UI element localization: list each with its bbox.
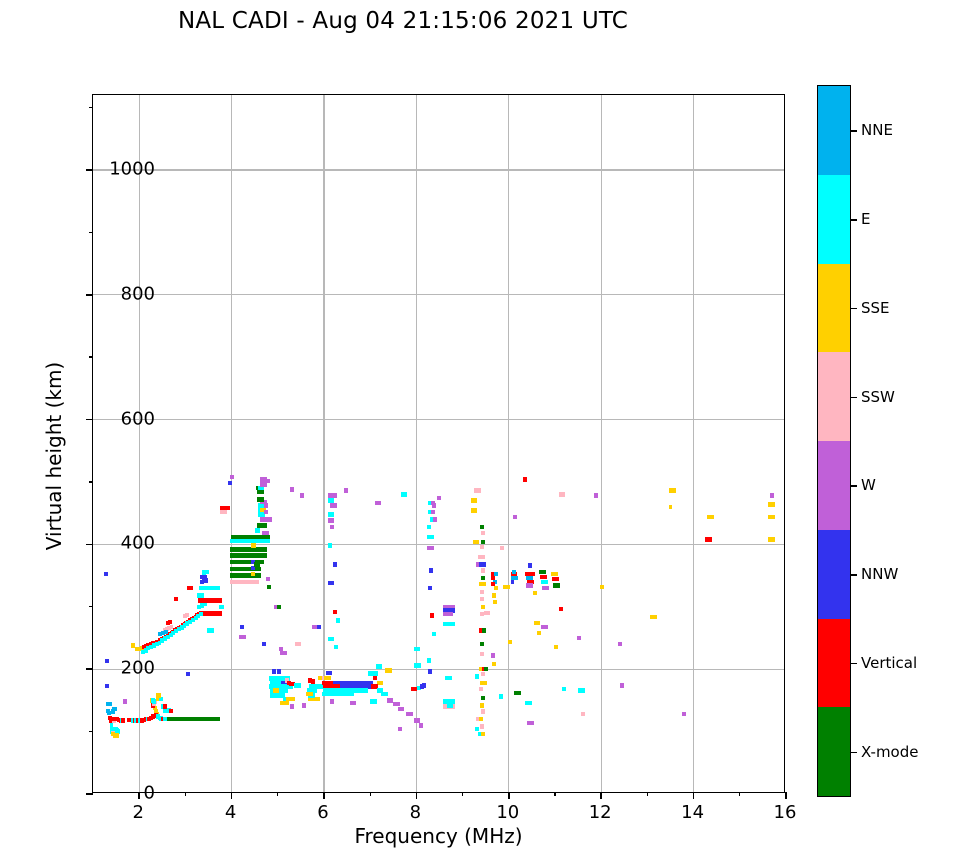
data-point	[480, 652, 484, 656]
data-point	[283, 651, 287, 655]
data-point	[771, 515, 775, 519]
data-point	[669, 505, 673, 509]
x-axis-tick	[323, 792, 325, 799]
data-point	[263, 553, 267, 557]
data-point	[481, 555, 485, 559]
data-point	[672, 488, 676, 492]
data-point	[554, 645, 558, 649]
colorbar-tick	[850, 219, 857, 221]
data-point	[373, 676, 377, 680]
colorbar-tick	[850, 663, 857, 665]
data-point	[297, 683, 301, 687]
data-point	[771, 537, 775, 541]
data-point	[513, 515, 517, 519]
data-point	[401, 707, 405, 711]
x-axis-tick	[785, 792, 787, 799]
data-point	[544, 625, 548, 629]
data-point	[480, 525, 484, 529]
data-point	[309, 692, 313, 696]
plot-area	[92, 94, 785, 793]
y-axis-tick-label: 1000	[109, 158, 155, 179]
data-point	[264, 503, 268, 507]
colorbar-segment-ssw	[818, 352, 850, 441]
data-point	[481, 709, 485, 713]
data-point	[600, 585, 604, 589]
data-point	[653, 615, 657, 619]
data-point	[333, 503, 337, 507]
data-point	[492, 662, 496, 666]
data-point	[431, 501, 435, 505]
data-point	[268, 517, 272, 521]
colorbar-label-x-mode: X-mode	[861, 743, 918, 761]
data-point	[122, 719, 126, 723]
data-point	[265, 531, 269, 535]
data-point	[481, 576, 485, 580]
colorbar-tick	[850, 752, 857, 754]
x-axis-minor-tick	[277, 792, 278, 796]
data-point	[561, 492, 565, 496]
data-point	[477, 488, 481, 492]
data-point	[329, 671, 333, 675]
y-axis-minor-tick	[89, 731, 93, 732]
data-point	[708, 537, 712, 541]
data-point	[330, 581, 334, 585]
data-point	[327, 676, 331, 680]
data-point	[431, 510, 435, 514]
data-point	[292, 697, 296, 701]
data-point	[158, 693, 162, 697]
data-point	[542, 570, 546, 574]
colorbar-label-w: W	[861, 476, 876, 494]
data-point	[223, 510, 227, 514]
data-point	[432, 632, 436, 636]
data-point	[481, 531, 485, 535]
data-point	[264, 510, 268, 514]
data-point	[481, 540, 485, 544]
data-point	[105, 684, 109, 688]
data-point	[514, 576, 518, 580]
data-point	[493, 600, 497, 604]
data-point	[334, 645, 338, 649]
data-point	[482, 628, 486, 632]
data-point	[266, 539, 270, 543]
data-point	[481, 696, 485, 700]
x-axis-minor-tick	[554, 792, 555, 796]
data-point	[430, 535, 434, 539]
data-point	[506, 585, 510, 589]
data-point	[263, 523, 267, 527]
data-point	[530, 721, 534, 725]
data-point	[279, 647, 283, 651]
y-axis-tick	[86, 294, 93, 296]
data-point	[330, 637, 334, 641]
data-point	[620, 683, 624, 687]
data-point	[330, 518, 334, 522]
data-point	[482, 582, 486, 586]
data-point	[272, 669, 276, 673]
data-point	[267, 585, 271, 589]
data-point	[581, 688, 585, 692]
x-axis-minor-tick	[370, 792, 371, 796]
data-point	[263, 482, 267, 486]
data-point	[581, 712, 585, 716]
data-point	[330, 699, 334, 703]
y-axis-tick-label: 200	[121, 658, 155, 679]
data-point	[475, 674, 479, 678]
data-point	[480, 724, 484, 728]
data-point	[428, 669, 432, 673]
data-point	[429, 568, 433, 572]
data-point	[242, 635, 246, 639]
data-point	[528, 701, 532, 705]
data-point	[536, 621, 540, 625]
data-point	[433, 517, 437, 521]
data-point	[430, 613, 434, 617]
data-point	[384, 692, 388, 696]
data-point	[487, 611, 491, 615]
data-point	[373, 699, 377, 703]
data-point	[260, 560, 264, 564]
data-point	[475, 727, 479, 731]
x-axis-minor-tick	[185, 792, 186, 796]
colorbar-label-nne: NNE	[861, 121, 893, 139]
data-point	[199, 612, 203, 616]
data-point	[480, 545, 484, 549]
data-point	[353, 701, 357, 705]
data-point	[210, 628, 214, 632]
data-point	[428, 586, 432, 590]
data-point	[328, 543, 332, 547]
data-point	[480, 642, 484, 646]
data-point	[230, 475, 234, 479]
data-point	[333, 493, 337, 497]
data-point	[285, 701, 289, 705]
colorbar-segment-sse	[818, 264, 850, 353]
data-point	[512, 570, 516, 574]
data-point	[492, 593, 496, 597]
x-axis-tick-label: 6	[317, 802, 328, 823]
data-point	[770, 493, 774, 497]
data-point	[284, 688, 288, 692]
data-point	[300, 493, 304, 497]
data-point	[203, 602, 207, 606]
colorbar-segment-w	[818, 441, 850, 530]
y-axis-tick-label: 0	[144, 783, 155, 804]
x-axis-tick	[508, 792, 510, 799]
data-point	[419, 723, 423, 727]
data-point	[262, 642, 266, 646]
data-point	[240, 625, 244, 629]
data-point	[251, 566, 255, 570]
data-point	[403, 492, 407, 496]
data-point	[481, 605, 485, 609]
y-axis-tick-label: 400	[121, 533, 155, 554]
data-point	[594, 493, 598, 497]
y-axis-minor-tick	[89, 107, 93, 108]
colorbar-label-ssw: SSW	[861, 388, 895, 406]
data-point	[168, 620, 172, 624]
data-point	[257, 573, 261, 577]
y-axis-tick	[86, 544, 93, 546]
data-point	[251, 572, 255, 576]
data-point	[260, 486, 264, 490]
data-point	[113, 707, 117, 711]
colorbar-segment-x-mode	[818, 707, 850, 796]
data-point	[517, 691, 521, 695]
y-axis-minor-tick	[89, 232, 93, 233]
data-point	[311, 679, 315, 683]
colorbar-tick	[850, 130, 857, 132]
data-point	[416, 647, 420, 651]
data-point	[318, 676, 322, 680]
data-point	[330, 525, 334, 529]
data-point	[169, 709, 173, 713]
data-point	[108, 702, 112, 706]
colorbar-segment-nnw	[818, 530, 850, 619]
data-point	[228, 481, 232, 485]
data-point	[449, 612, 453, 616]
data-points-layer	[93, 95, 784, 792]
data-point	[218, 598, 222, 602]
data-point	[316, 697, 320, 701]
data-point	[483, 681, 487, 685]
x-axis-tick-label: 14	[681, 802, 704, 823]
data-point	[317, 625, 321, 629]
y-axis-tick	[86, 668, 93, 670]
data-point	[333, 610, 337, 614]
data-point	[377, 501, 381, 505]
y-axis-minor-tick	[89, 606, 93, 607]
data-point	[398, 727, 402, 731]
data-point	[115, 733, 119, 737]
data-point	[409, 712, 413, 716]
data-point	[511, 580, 515, 584]
y-axis-tick-label: 600	[121, 408, 155, 429]
data-point	[559, 607, 563, 611]
data-point	[481, 568, 485, 572]
chart-title: NAL CADI - Aug 04 21:15:06 2021 UTC	[0, 8, 806, 34]
data-point	[220, 605, 224, 609]
x-axis-tick	[138, 792, 140, 799]
data-point	[556, 583, 560, 587]
data-point	[252, 543, 256, 547]
data-point	[159, 697, 163, 701]
colorbar-segment-nne	[818, 86, 850, 175]
data-point	[170, 625, 174, 629]
data-point	[302, 703, 306, 707]
data-point	[256, 528, 260, 532]
data-point	[474, 498, 478, 502]
colorbar: NNEESSESSWWNNWVerticalX-mode	[817, 85, 851, 797]
data-point	[523, 477, 527, 481]
data-point	[479, 687, 483, 691]
data-point	[710, 515, 714, 519]
x-axis-tick-label: 8	[410, 802, 421, 823]
data-point	[499, 694, 503, 698]
data-point	[104, 572, 108, 576]
colorbar-label-e: E	[861, 210, 870, 228]
y-axis-tick	[86, 793, 93, 795]
data-point	[545, 586, 549, 590]
data-point	[379, 681, 383, 685]
data-point	[277, 669, 281, 673]
data-point	[544, 580, 548, 584]
data-point	[185, 613, 189, 617]
data-point	[131, 643, 135, 647]
data-point	[480, 590, 484, 594]
data-point	[427, 525, 431, 529]
colorbar-tick	[850, 397, 857, 399]
colorbar-tick	[850, 574, 857, 576]
data-point	[474, 508, 478, 512]
data-point	[189, 586, 193, 590]
data-point	[266, 479, 270, 483]
x-axis-tick	[600, 792, 602, 799]
data-point	[533, 591, 537, 595]
x-axis-tick-label: 10	[496, 802, 519, 823]
x-axis-tick	[693, 792, 695, 799]
data-point	[257, 567, 261, 571]
y-axis-tick-label: 800	[121, 283, 155, 304]
data-point	[266, 577, 270, 581]
colorbar-segment-e	[818, 175, 850, 264]
data-point	[350, 692, 354, 696]
data-point	[216, 717, 220, 721]
data-point	[388, 668, 392, 672]
data-point	[105, 659, 109, 663]
y-axis-title: Virtual height (km)	[42, 306, 66, 606]
data-point	[430, 546, 434, 550]
data-point	[771, 502, 775, 506]
data-point	[216, 586, 220, 590]
data-point	[480, 703, 484, 707]
data-point	[263, 547, 267, 551]
data-point	[682, 712, 686, 716]
data-point	[336, 618, 340, 622]
data-point	[479, 717, 483, 721]
data-point	[378, 664, 382, 668]
data-point	[417, 663, 421, 667]
data-point	[200, 593, 204, 597]
x-axis-tick-label: 12	[589, 802, 612, 823]
data-point	[448, 676, 452, 680]
x-axis-minor-tick	[739, 792, 740, 796]
data-point	[481, 672, 485, 676]
data-point	[204, 578, 208, 582]
x-axis-minor-tick	[462, 792, 463, 796]
colorbar-label-nnw: NNW	[861, 565, 898, 583]
colorbar-label-sse: SSE	[861, 299, 890, 317]
data-point	[333, 562, 337, 566]
data-point	[290, 704, 294, 708]
x-axis-tick-label: 4	[225, 802, 236, 823]
data-point	[256, 562, 260, 566]
data-point	[203, 575, 207, 579]
data-point	[437, 496, 441, 500]
data-point	[330, 512, 334, 516]
data-point	[218, 611, 222, 615]
data-point	[164, 630, 168, 634]
data-point	[365, 688, 369, 692]
data-point	[537, 631, 541, 635]
data-point	[508, 640, 512, 644]
data-point	[494, 586, 498, 590]
data-point	[260, 497, 264, 501]
data-point	[260, 490, 264, 494]
data-point	[618, 642, 622, 646]
y-axis-tick	[86, 419, 93, 421]
data-point	[163, 704, 167, 708]
x-axis-minor-tick	[647, 792, 648, 796]
data-point	[554, 572, 558, 576]
data-point	[255, 580, 259, 584]
data-point	[475, 540, 479, 544]
data-point	[186, 672, 190, 676]
data-point	[577, 636, 581, 640]
data-point	[422, 683, 426, 687]
data-point	[529, 583, 533, 587]
data-point	[500, 546, 504, 550]
data-point	[555, 577, 559, 581]
data-point	[491, 653, 495, 657]
x-axis-tick-label: 2	[132, 802, 143, 823]
data-point	[416, 718, 420, 722]
y-axis-minor-tick	[89, 356, 93, 357]
data-point	[484, 667, 488, 671]
data-point	[396, 702, 400, 706]
data-point	[427, 658, 431, 662]
data-point	[480, 597, 484, 601]
y-axis-minor-tick	[89, 481, 93, 482]
data-point	[562, 687, 566, 691]
data-point	[313, 688, 317, 692]
data-point	[528, 563, 532, 567]
data-point	[297, 642, 301, 646]
data-point	[174, 597, 178, 601]
data-point	[330, 498, 334, 502]
x-axis-title: Frequency (MHz)	[92, 824, 785, 848]
colorbar-segment-vertical	[818, 619, 850, 708]
data-point	[450, 703, 454, 707]
data-point	[205, 570, 209, 574]
data-point	[451, 622, 455, 626]
data-point	[481, 732, 485, 736]
x-axis-tick-label: 16	[774, 802, 797, 823]
x-axis-tick	[231, 792, 233, 799]
data-point	[290, 487, 294, 491]
data-point	[123, 699, 127, 703]
data-point	[277, 605, 281, 609]
x-axis-tick	[416, 792, 418, 799]
y-axis-tick	[86, 169, 93, 171]
data-point	[482, 562, 486, 566]
colorbar-tick	[850, 485, 857, 487]
data-point	[344, 488, 348, 492]
data-point	[543, 575, 547, 579]
colorbar-tick	[850, 308, 857, 310]
colorbar-label-vertical: Vertical	[861, 654, 917, 672]
